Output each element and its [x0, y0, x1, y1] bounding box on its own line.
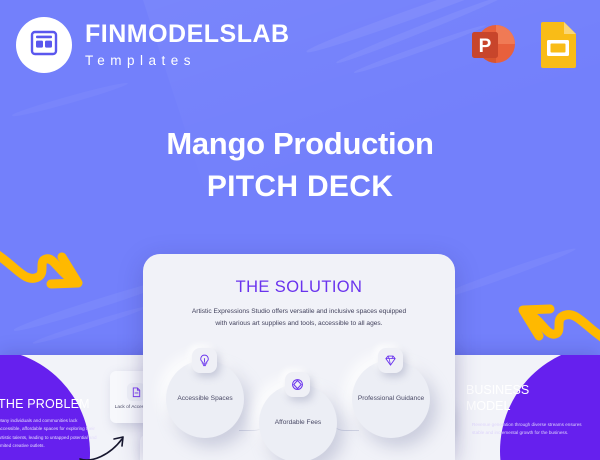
brand-tagline: Templates: [85, 54, 290, 68]
business-model-heading: BUSINESS MODEL: [466, 383, 576, 414]
diamond-icon: [378, 348, 403, 373]
logo-circle: [16, 17, 72, 73]
squiggly-arrow-right-icon: [0, 243, 96, 318]
solution-card: THE SOLUTION Artistic Expressions Studio…: [143, 254, 455, 460]
problem-heading: THE PROBLEM: [0, 397, 108, 411]
solution-heading: THE SOLUTION: [143, 278, 455, 297]
brand-logo[interactable]: FINMODELSLAB Templates: [16, 17, 290, 73]
curved-arrow-icon: [78, 431, 130, 460]
gem-outline-icon: [285, 372, 310, 397]
slide-canvas: FINMODELSLAB Templates P Mango Productio…: [0, 0, 600, 460]
solution-items: Accessible Spaces Affordable Fees P: [143, 350, 455, 460]
solution-item-label: Affordable Fees: [275, 418, 321, 428]
deck-title: Mango Production: [0, 126, 600, 162]
business-model-heading-line2: MODEL: [466, 399, 576, 415]
solution-item-label: Professional Guidance: [358, 394, 424, 404]
brand-name: FINMODELSLAB: [85, 22, 290, 47]
deck-subtitle: PITCH DECK: [0, 170, 600, 204]
google-slides-icon[interactable]: [532, 18, 584, 70]
solution-description: Artistic Expressions Studio offers versa…: [190, 306, 408, 329]
brand-text: FINMODELSLAB Templates: [85, 22, 290, 68]
grid-icon: [29, 28, 59, 63]
business-model-heading-line1: BUSINESS: [466, 383, 576, 399]
solution-item-label: Accessible Spaces: [177, 394, 232, 404]
powerpoint-icon[interactable]: P: [466, 18, 518, 70]
svg-text:P: P: [479, 36, 492, 57]
lightbulb-icon: [192, 348, 217, 373]
squiggly-arrow-left-icon: [505, 284, 600, 359]
business-model-description: Revenue generation through diverse strea…: [472, 421, 590, 438]
format-icons: P: [466, 18, 584, 70]
